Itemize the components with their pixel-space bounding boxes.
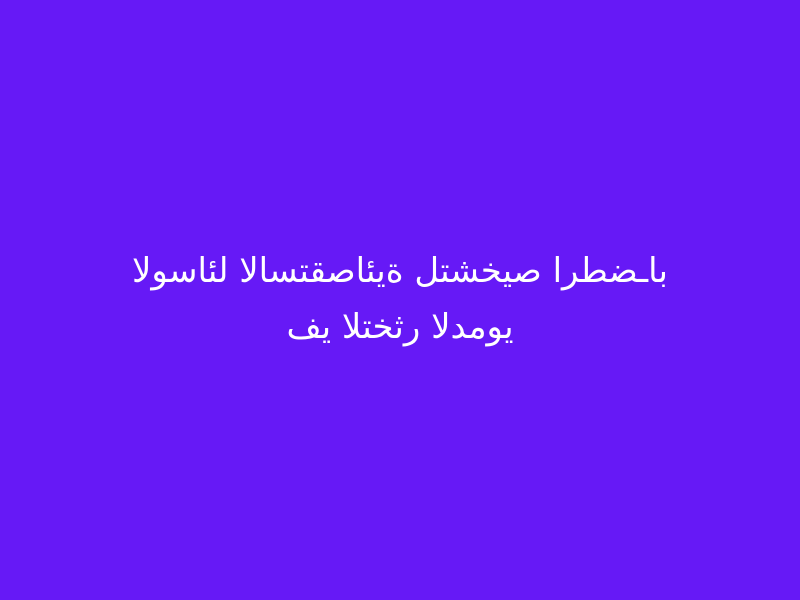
title-block: باـضطرا صيخشتل ةيئاصقتسالا لئاسولا يومدل…: [0, 243, 800, 355]
title-line-2: يومدلا رثختلا يف: [286, 299, 513, 355]
slide-canvas: باـضطرا صيخشتل ةيئاصقتسالا لئاسولا يومدل…: [0, 0, 800, 600]
title-line-1: باـضطرا صيخشتل ةيئاصقتسالا لئاسولا: [132, 243, 668, 299]
